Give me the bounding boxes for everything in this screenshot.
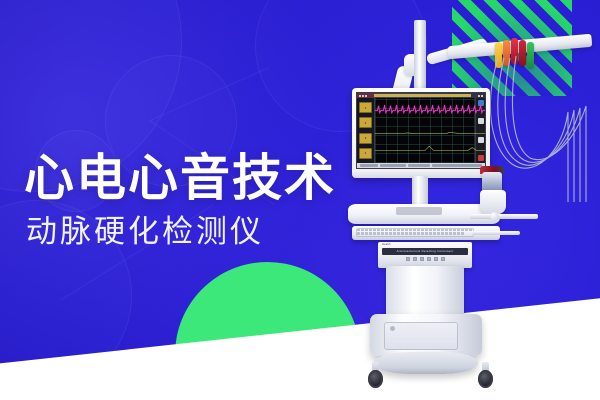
channel-label: 4 bbox=[359, 148, 372, 159]
panel-port bbox=[427, 257, 431, 261]
page-title: 心电心音技术 bbox=[24, 152, 336, 204]
keyboard[interactable] bbox=[356, 228, 474, 237]
accessory-rail bbox=[470, 214, 538, 219]
monitor-pole bbox=[414, 20, 426, 92]
panel-port bbox=[406, 257, 410, 261]
caster-wheel bbox=[478, 370, 493, 388]
panel-brand-label: Health bbox=[382, 244, 468, 247]
panel-port bbox=[434, 257, 438, 261]
channel-label: 2 bbox=[359, 117, 372, 128]
phono-trace-bottom bbox=[375, 144, 486, 154]
keyboard-tray bbox=[352, 226, 500, 240]
channel-label: 1 bbox=[359, 102, 372, 113]
headline-group: 心电心音技术 动脉硬化检测仪 bbox=[24, 152, 336, 247]
cart-base-cabinet bbox=[370, 314, 482, 356]
work-surface-inset bbox=[396, 207, 442, 215]
panel-title-strip: Arteriosclerosis Detecting Instrument bbox=[382, 248, 468, 255]
screen-body: 1 2 3 4 bbox=[357, 98, 485, 163]
panel-port bbox=[420, 257, 424, 261]
monitor: 1 2 3 4 bbox=[352, 88, 490, 178]
side-button-white[interactable] bbox=[478, 118, 484, 124]
panel-port bbox=[413, 257, 417, 261]
ecg-trace-top bbox=[375, 102, 486, 114]
rail-knob bbox=[490, 212, 499, 221]
phono-trace-mid bbox=[375, 128, 486, 138]
panel-port bbox=[441, 257, 445, 261]
cart-star-base bbox=[374, 352, 478, 374]
caster-wheel-right bbox=[478, 362, 493, 388]
screen-statusbar bbox=[357, 163, 485, 168]
cabinet-door[interactable] bbox=[384, 322, 458, 350]
channel-label: 3 bbox=[359, 133, 372, 144]
panel-title-text: Arteriosclerosis Detecting Instrument bbox=[397, 249, 454, 253]
keyboard-tray-arm bbox=[472, 231, 520, 235]
instrument-panel: Health Arteriosclerosis Detecting Instru… bbox=[378, 242, 472, 268]
channel-label-column: 1 2 3 4 bbox=[357, 98, 375, 163]
cart-column bbox=[386, 266, 464, 320]
medical-cart: 1 2 3 4 bbox=[330, 0, 600, 400]
promo-banner: 心电心音技术 动脉硬化检测仪 bbox=[0, 0, 600, 400]
caster-wheel bbox=[368, 370, 383, 388]
probe-holder bbox=[480, 190, 506, 214]
side-button-red[interactable] bbox=[478, 155, 484, 161]
caster-wheel-left bbox=[368, 362, 383, 388]
panel-port-row bbox=[382, 257, 468, 261]
waveform-plot bbox=[375, 98, 475, 163]
page-subtitle: 动脉硬化检测仪 bbox=[26, 216, 336, 247]
monitor-screen: 1 2 3 4 bbox=[356, 92, 486, 169]
